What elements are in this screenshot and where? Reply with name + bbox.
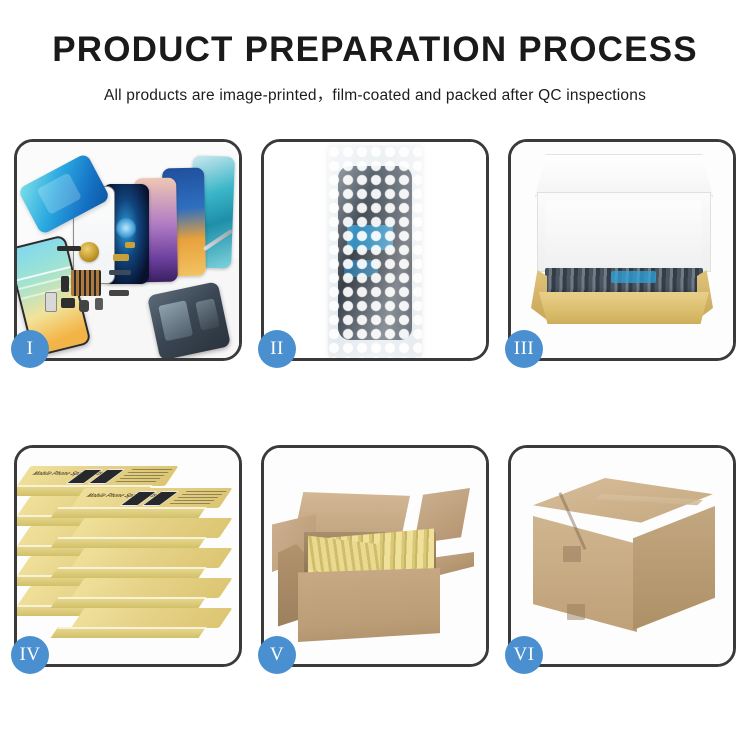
box-edge-highlight xyxy=(57,627,206,629)
gold-contact-icon xyxy=(125,242,135,248)
page-header: PRODUCT PREPARATION PROCESS All products… xyxy=(0,0,750,105)
process-step-panel-1[interactable]: I xyxy=(14,139,242,361)
step-badge-2: II xyxy=(258,330,296,368)
process-step-panel-5[interactable]: V xyxy=(261,445,489,667)
process-step-panel-6[interactable]: VI xyxy=(508,445,736,667)
box-edge-highlight xyxy=(17,485,153,487)
step-badge-4: IV xyxy=(11,636,49,674)
speaker-part-icon xyxy=(95,298,103,310)
carton-front-panel xyxy=(298,568,440,642)
carton-tab-upper xyxy=(563,546,581,562)
step-4-image: Mobile Phone Spare Parts xyxy=(17,448,239,664)
retail-box xyxy=(71,518,219,548)
carton-tab-lower xyxy=(567,604,585,620)
packed-screen-icon xyxy=(545,268,703,294)
bracket-icon xyxy=(61,276,69,292)
sealed-carton-scene xyxy=(511,448,733,664)
stacked-boxes-scene: Mobile Phone Spare Parts xyxy=(17,448,239,664)
retail-box xyxy=(71,548,219,578)
process-step-panel-2[interactable]: II xyxy=(261,139,489,361)
connector-icon xyxy=(113,254,129,261)
sim-tray-icon xyxy=(45,292,57,312)
mailer-box-scene xyxy=(511,142,733,358)
box-edge-highlight xyxy=(57,567,206,569)
box-spec-lines xyxy=(169,491,227,504)
page-subtitle: All products are image-printed，film-coat… xyxy=(0,83,750,105)
step-2-image xyxy=(264,142,486,358)
carton-right-face xyxy=(633,506,715,630)
step-6-image xyxy=(511,448,733,664)
box-top-face xyxy=(71,518,232,538)
phone-backplate-icon xyxy=(147,281,231,358)
retail-box xyxy=(71,578,219,608)
box-top-face xyxy=(71,548,232,568)
box-top-face xyxy=(71,578,232,598)
step-badge-1: I xyxy=(11,330,49,368)
box-spec-lines xyxy=(115,469,173,482)
box-lid-icon xyxy=(535,154,713,197)
box-edge-highlight xyxy=(57,597,206,599)
step-5-image xyxy=(264,448,486,664)
process-steps-grid: I II III xyxy=(14,139,736,667)
box-edge-highlight xyxy=(57,537,206,539)
button-part-icon xyxy=(61,298,75,308)
process-step-panel-3[interactable]: III xyxy=(508,139,736,361)
step-3-image xyxy=(511,142,733,358)
box-top-face xyxy=(71,608,232,628)
step-badge-6: VI xyxy=(505,636,543,674)
retail-box: Mobile Phone Spare Parts xyxy=(71,488,219,518)
camera-module-icon xyxy=(79,300,89,312)
retail-box xyxy=(71,608,219,638)
box-top-face: Mobile Phone Spare Parts xyxy=(17,466,178,486)
box-top-face: Mobile Phone Spare Parts xyxy=(71,488,232,508)
speaker-coil-icon xyxy=(79,242,99,262)
flex-cable-icon xyxy=(57,246,81,251)
step-badge-5: V xyxy=(258,636,296,674)
bubble-wrap-sleeve-icon xyxy=(328,146,422,358)
antenna-part-icon xyxy=(109,290,129,296)
carton-front-right-flap xyxy=(436,552,474,576)
step-1-image xyxy=(17,142,239,358)
box-edge-highlight xyxy=(57,507,206,509)
ribbon-cable-icon xyxy=(109,270,131,275)
screw-grid-icon xyxy=(71,270,101,296)
phone-parts-scene xyxy=(17,142,239,358)
foam-lining-icon xyxy=(545,200,701,266)
carton-left-face xyxy=(533,516,637,632)
page-title: PRODUCT PREPARATION PROCESS xyxy=(0,32,750,67)
plastic-sheen xyxy=(328,146,422,358)
step-badge-3: III xyxy=(505,330,543,368)
open-carton-scene xyxy=(264,448,486,664)
box-front-panel xyxy=(539,292,709,324)
bubble-wrap-scene xyxy=(264,142,486,358)
process-step-panel-4[interactable]: Mobile Phone Spare Parts xyxy=(14,445,242,667)
